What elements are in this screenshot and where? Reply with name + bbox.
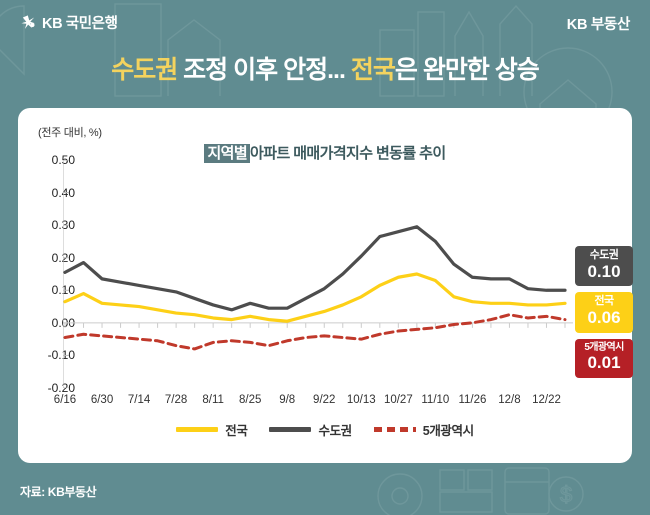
badge-value: 0.01 [575, 354, 633, 373]
kb-star-icon [20, 14, 37, 31]
x-tick-label: 11/10 [421, 394, 449, 406]
badge-name: 전국 [575, 295, 633, 309]
x-tick-label: 11/26 [458, 394, 486, 406]
source-note: 자료: KB부동산 [20, 483, 96, 500]
legend-label: 5개광역시 [423, 420, 474, 439]
value-badge: 5개광역시0.01 [575, 339, 633, 378]
legend-item: 수도권 [269, 420, 351, 439]
x-tick-label: 6/30 [91, 394, 113, 406]
x-tick-label: 8/11 [202, 394, 224, 406]
badge-name: 수도권 [575, 249, 633, 263]
x-tick-label: 9/8 [279, 394, 295, 406]
badge-value: 0.06 [575, 309, 633, 328]
x-tick-label: 7/14 [128, 394, 150, 406]
page-headline: 수도권 조정 이후 안정... 전국은 완만한 상승 [0, 50, 650, 86]
badge-value: 0.10 [575, 263, 633, 282]
unit-label: (전주 대비, %) [38, 124, 102, 140]
kb-brand-right: KB 부동산 [567, 13, 630, 34]
headline-rest-1: 조정 이후 안정... [177, 56, 351, 84]
page-header: KB 국민은행 KB 부동산 [0, 0, 650, 46]
x-tick-label: 8/25 [239, 394, 261, 406]
svg-text:$: $ [560, 482, 572, 507]
legend-swatch [269, 427, 311, 432]
series-line [65, 315, 565, 349]
legend-label: 전국 [225, 420, 247, 439]
chart-plot-area [63, 160, 573, 388]
x-tick-label: 10/27 [384, 394, 413, 406]
legend-label: 수도권 [318, 420, 351, 439]
legend-swatch [374, 427, 416, 432]
headline-rest-2: 은 완만한 상승 [395, 56, 539, 84]
kb-logo-text: KB 국민은행 [42, 12, 118, 33]
chart-card: (전주 대비, %) 지역별아파트 매매가격지수 변동률 추이 0.500.40… [18, 108, 632, 463]
x-tick-label: 12/22 [532, 394, 561, 406]
x-tick-label: 10/13 [347, 394, 376, 406]
legend-item: 5개광역시 [374, 420, 474, 439]
x-tick-label: 7/28 [165, 394, 187, 406]
legend-item: 전국 [176, 420, 247, 439]
chart-legend: 전국수도권5개광역시 [18, 420, 632, 439]
x-tick-label: 12/8 [498, 394, 520, 406]
series-line [65, 274, 565, 321]
series-line [65, 227, 565, 310]
value-badge: 수도권0.10 [575, 246, 633, 286]
legend-swatch [176, 427, 218, 432]
headline-highlight-2: 전국 [351, 56, 395, 84]
x-tick-label: 6/16 [54, 394, 76, 406]
x-axis-labels: 6/166/307/147/288/118/259/89/2210/1310/2… [63, 394, 573, 412]
value-badges: 수도권0.10전국0.065개광역시0.01 [575, 246, 633, 384]
value-badge: 전국0.06 [575, 292, 633, 332]
x-tick-label: 9/22 [313, 394, 335, 406]
headline-highlight-1: 수도권 [111, 56, 177, 84]
kb-logo: KB 국민은행 [20, 12, 118, 33]
